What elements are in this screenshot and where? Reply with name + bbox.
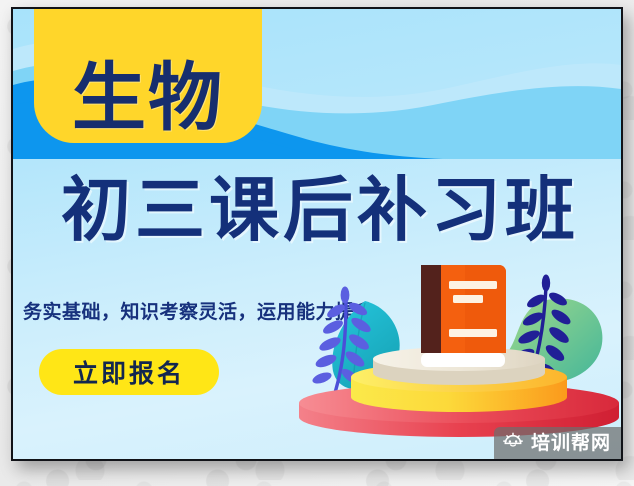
page-title: 初三课后补习班 bbox=[21, 175, 619, 245]
screenshot-root: 生物 初三课后补习班 务实基础，知识考察灵活，运用能力提升 立即报名 bbox=[0, 0, 634, 486]
enroll-now-button-label: 立即报名 bbox=[73, 354, 185, 390]
book-podium-illustration bbox=[293, 249, 623, 449]
book-illustration bbox=[421, 265, 506, 367]
enroll-now-button[interactable]: 立即报名 bbox=[39, 349, 219, 395]
watermark-label: 培训帮网 bbox=[531, 434, 611, 453]
subject-badge: 生物 bbox=[34, 7, 262, 143]
watermark: 培训帮网 bbox=[494, 427, 621, 459]
sun-face-icon bbox=[502, 432, 524, 454]
course-promo-poster: 生物 初三课后补习班 务实基础，知识考察灵活，运用能力提升 立即报名 bbox=[11, 7, 623, 461]
subject-badge-label: 生物 bbox=[72, 61, 224, 135]
